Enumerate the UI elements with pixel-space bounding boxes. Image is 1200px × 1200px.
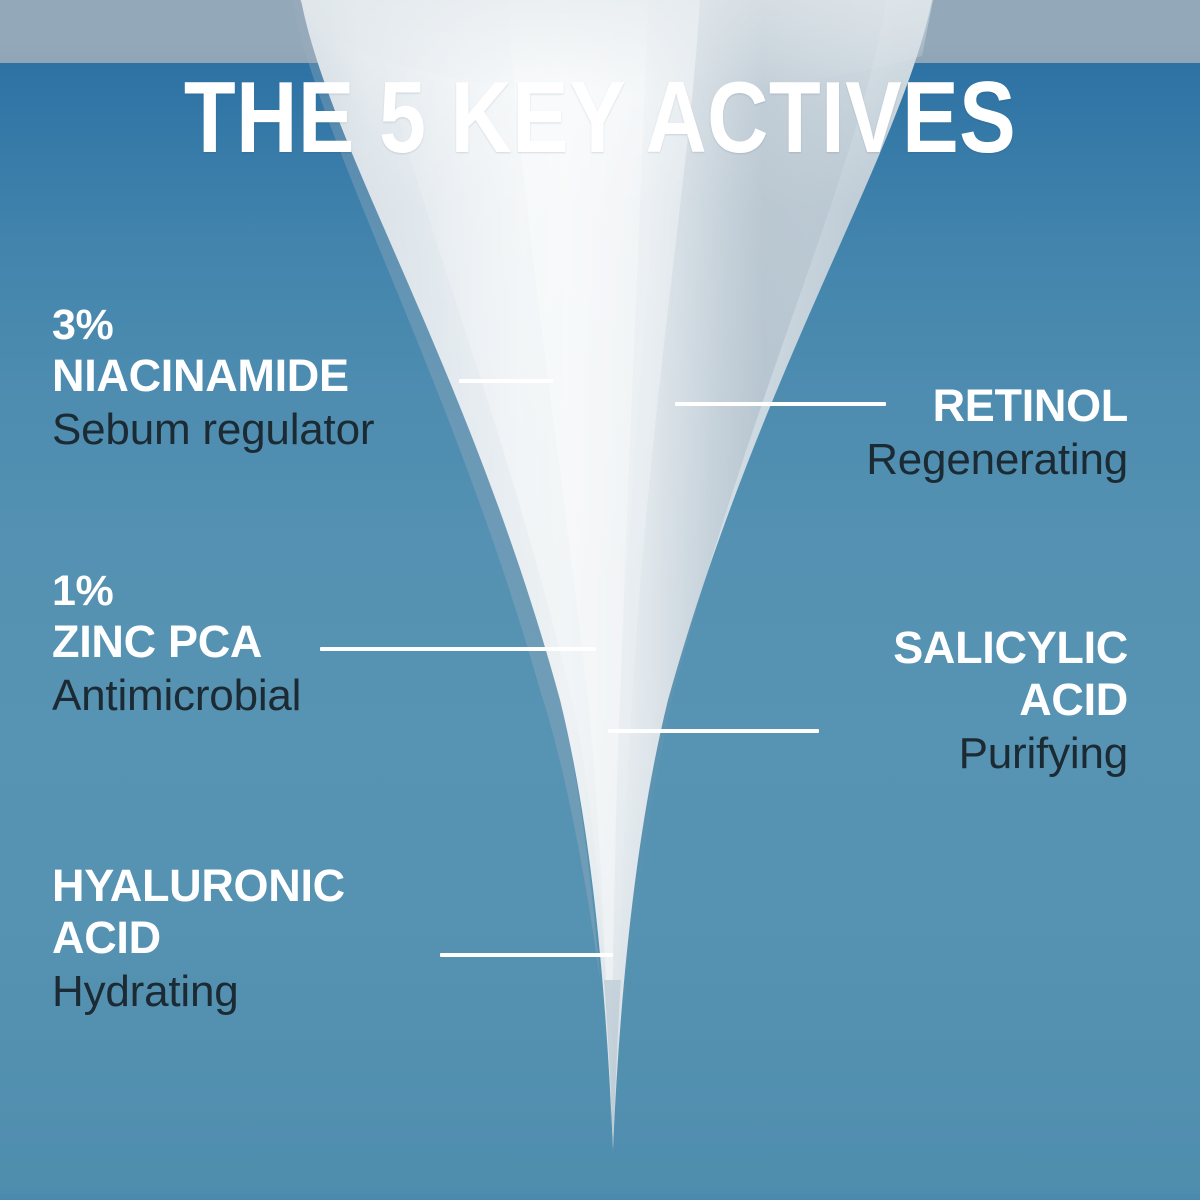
active-label-niacinamide: 3% NIACINAMIDE Sebum regulator bbox=[52, 300, 374, 457]
connector-line-hyaluronic-acid bbox=[440, 953, 613, 957]
active-description-niacinamide: Sebum regulator bbox=[52, 402, 374, 457]
connector-line-salicylic-acid bbox=[608, 729, 819, 733]
active-label-salicylic-acid: SALICYLIC ACID Purifying bbox=[893, 622, 1128, 781]
infographic-canvas: THE 5 KEY ACTIVES 3% NIACINAMIDE Sebum r… bbox=[0, 0, 1200, 1200]
active-description-hyaluronic-acid: Hydrating bbox=[52, 964, 345, 1019]
page-title: THE 5 KEY ACTIVES bbox=[96, 68, 1104, 169]
connector-line-zinc-pca bbox=[320, 647, 596, 651]
active-label-zinc-pca: 1% ZINC PCA Antimicrobial bbox=[52, 566, 301, 723]
active-percentage-niacinamide: 3% bbox=[52, 300, 374, 350]
active-name-niacinamide: NIACINAMIDE bbox=[52, 350, 374, 402]
active-name-salicylic-acid-line2: ACID bbox=[893, 674, 1128, 726]
active-label-hyaluronic-acid: HYALURONIC ACID Hydrating bbox=[52, 860, 345, 1019]
active-label-retinol: RETINOL Regenerating bbox=[866, 380, 1128, 487]
active-percentage-zinc-pca: 1% bbox=[52, 566, 301, 616]
active-description-retinol: Regenerating bbox=[866, 432, 1128, 487]
active-description-zinc-pca: Antimicrobial bbox=[52, 668, 301, 723]
active-description-salicylic-acid: Purifying bbox=[893, 726, 1128, 781]
connector-line-retinol bbox=[675, 402, 886, 406]
active-name-hyaluronic-acid-line2: ACID bbox=[52, 912, 345, 964]
active-name-salicylic-acid-line1: SALICYLIC bbox=[893, 622, 1128, 674]
active-name-retinol: RETINOL bbox=[866, 380, 1128, 432]
active-name-zinc-pca: ZINC PCA bbox=[52, 616, 301, 668]
connector-line-niacinamide bbox=[459, 379, 553, 383]
active-name-hyaluronic-acid-line1: HYALURONIC bbox=[52, 860, 345, 912]
